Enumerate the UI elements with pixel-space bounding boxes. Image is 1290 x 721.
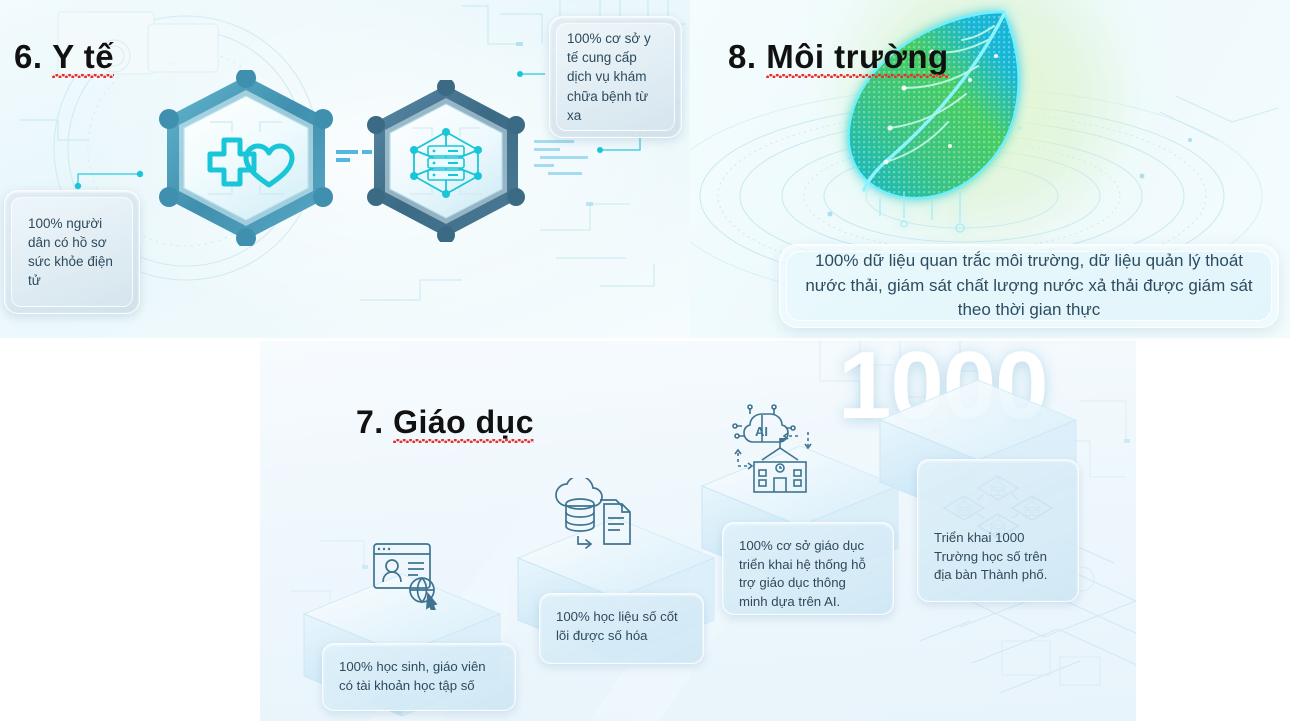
environment-heading-text: Môi trường	[766, 38, 949, 76]
health-hex-badge-network	[356, 80, 536, 242]
health-heading-number: 6.	[14, 38, 43, 75]
cloud-database-documents-icon	[552, 478, 642, 558]
health-card-telemedicine-inner: 100% cơ sở y tế cung cấp dịch vụ khám ch…	[556, 23, 675, 131]
health-card-health-record: 100% người dân có hồ sơ sức khỏe điện tử	[4, 190, 140, 314]
health-section-panel: 6. Y tế 100% người dân có hồ sơ sức khỏe…	[0, 0, 690, 338]
education-card-ai-systems-inner: 100% cơ sở giáo dục triển khai hệ thống …	[729, 529, 887, 608]
education-card-student-accounts-inner: 100% học sinh, giáo viên có tài khoản họ…	[329, 650, 509, 704]
svg-text:AI: AI	[755, 424, 768, 439]
education-card-1000-schools-inner: Triển khai 1000 Trường học số trên địa b…	[924, 466, 1072, 595]
health-card-health-record-text: 100% người dân có hồ sơ sức khỏe điện tử	[28, 214, 122, 291]
education-card-1000-schools: Triển khai 1000 Trường học số trên địa b…	[917, 459, 1079, 602]
health-heading: 6. Y tế	[14, 38, 114, 76]
health-hex-badge-medical	[148, 70, 344, 246]
environment-card-monitoring: 100% dữ liệu quan trắc môi trường, dữ li…	[779, 244, 1279, 328]
education-card-student-accounts-text: 100% học sinh, giáo viên có tài khoản họ…	[339, 658, 499, 695]
education-card-digital-materials: 100% học liệu số cốt lõi được số hóa	[539, 593, 704, 664]
environment-card-monitoring-text: 100% dữ liệu quan trắc môi trường, dữ li…	[797, 249, 1261, 323]
education-heading-number: 7.	[356, 404, 384, 440]
health-card-telemedicine-text: 100% cơ sở y tế cung cấp dịch vụ khám ch…	[567, 29, 664, 125]
education-card-digital-materials-inner: 100% học liệu số cốt lõi được số hóa	[546, 600, 697, 657]
education-card-student-accounts: 100% học sinh, giáo viên có tài khoản họ…	[322, 643, 516, 711]
environment-heading-number: 8.	[728, 38, 757, 75]
education-heading-text: Giáo dục	[393, 404, 534, 441]
education-card-1000-schools-text: Triển khai 1000 Trường học số trên địa b…	[934, 529, 1062, 585]
health-card-health-record-inner: 100% người dân có hồ sơ sức khỏe điện tử	[11, 197, 133, 307]
health-card-telemedicine: 100% cơ sở y tế cung cấp dịch vụ khám ch…	[549, 16, 682, 138]
education-card-digital-materials-text: 100% học liệu số cốt lõi được số hóa	[556, 608, 687, 645]
environment-heading: 8. Môi trường	[728, 38, 949, 76]
student-account-browser-icon	[368, 538, 452, 610]
environment-card-monitoring-inner: 100% dữ liệu quan trắc môi trường, dữ li…	[786, 251, 1272, 321]
environment-leaf-graphic	[828, 0, 1158, 246]
ai-brain-school-icon: AI	[728, 404, 828, 496]
education-heading: 7. Giáo dục	[356, 404, 534, 441]
health-heading-text: Y tế	[52, 38, 114, 76]
education-card-ai-systems-text: 100% cơ sở giáo dục triển khai hệ thống …	[739, 537, 877, 612]
education-card-ai-systems: 100% cơ sở giáo dục triển khai hệ thống …	[722, 522, 894, 615]
